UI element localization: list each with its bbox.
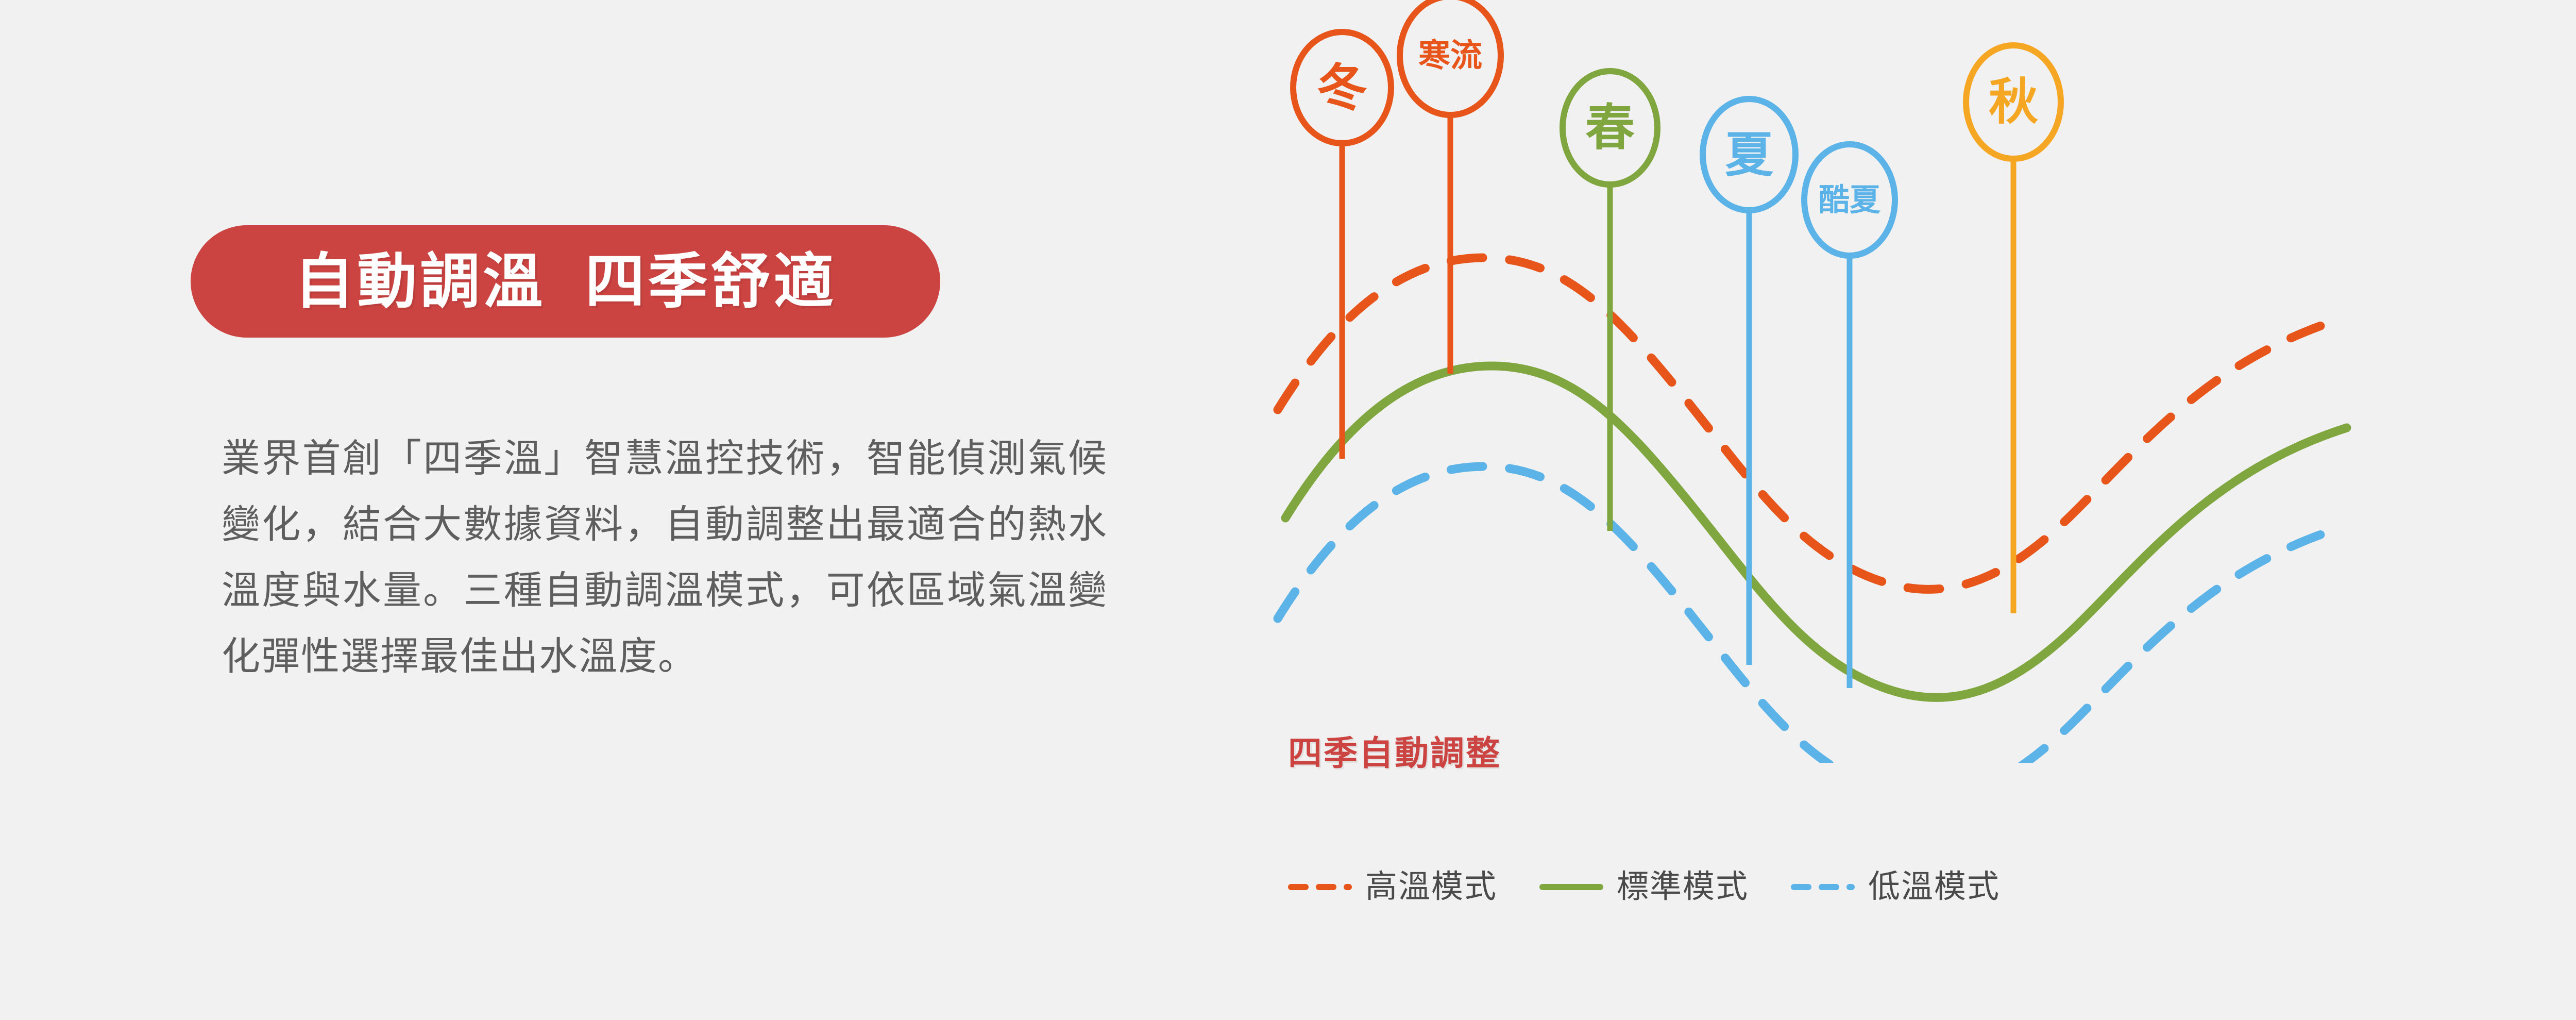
legend-label-high-temp: 高溫模式 — [1365, 871, 1497, 903]
legend-swatch-solid-green — [1539, 884, 1603, 890]
curve-standard-mode — [1285, 366, 2347, 697]
pin-label-cold-wave: 寒流 — [1418, 38, 1482, 74]
chart-curves-svg: 冬 寒流 春 夏 酷夏 秋 — [1185, 0, 2576, 763]
pin-label-summer: 夏 — [1725, 128, 1774, 182]
annotation-pin-autumn[interactable]: 秋 — [1966, 45, 2061, 613]
legend-swatch-dashed-orange — [1288, 884, 1352, 890]
annotation-pin-cold-wave[interactable]: 寒流 — [1400, 0, 1501, 374]
legend-label-standard: 標準模式 — [1617, 871, 1749, 903]
curve-high-temp-mode — [1278, 258, 2339, 589]
annotation-pin-scorching-summer[interactable]: 酷夏 — [1804, 144, 1895, 688]
seasonal-temperature-chart: 冬 寒流 春 夏 酷夏 秋 — [1185, 0, 2576, 1020]
legend-item-high-temp[interactable]: 高溫模式 — [1288, 871, 1497, 903]
curve-low-temp-mode — [1278, 466, 2339, 763]
legend-item-low-temp[interactable]: 低溫模式 — [1791, 871, 2000, 903]
pin-label-scorching-summer: 酷夏 — [1819, 183, 1881, 218]
legend-label-low-temp: 低溫模式 — [1868, 871, 2000, 903]
pin-label-spring: 春 — [1585, 101, 1635, 156]
chart-legend: 高溫模式 標準模式 低溫模式 — [1288, 871, 2000, 903]
legend-item-standard[interactable]: 標準模式 — [1539, 871, 1749, 903]
legend-swatch-dashed-blue — [1791, 884, 1855, 890]
pin-label-autumn: 秋 — [1989, 75, 2038, 130]
annotation-pin-spring[interactable]: 春 — [1563, 71, 1657, 531]
annotation-pin-summer[interactable]: 夏 — [1703, 99, 1795, 665]
body-paragraph: 業界首創「四季溫」智慧溫控技術，智能偵測氣候變化，結合大數據資料，自動調整出最適… — [222, 425, 1108, 689]
page-title: 自動調溫 四季舒適 — [294, 252, 836, 311]
annotation-pin-winter[interactable]: 冬 — [1293, 32, 1391, 459]
chart-subtitle: 四季自動調整 — [1288, 736, 1501, 770]
pin-label-winter: 冬 — [1317, 59, 1367, 116]
left-content-column: 自動調溫 四季舒適 業界首創「四季溫」智慧溫控技術，智能偵測氣候變化，結合大數據… — [0, 0, 1185, 1020]
page-title-badge: 自動調溫 四季舒適 — [191, 225, 940, 338]
